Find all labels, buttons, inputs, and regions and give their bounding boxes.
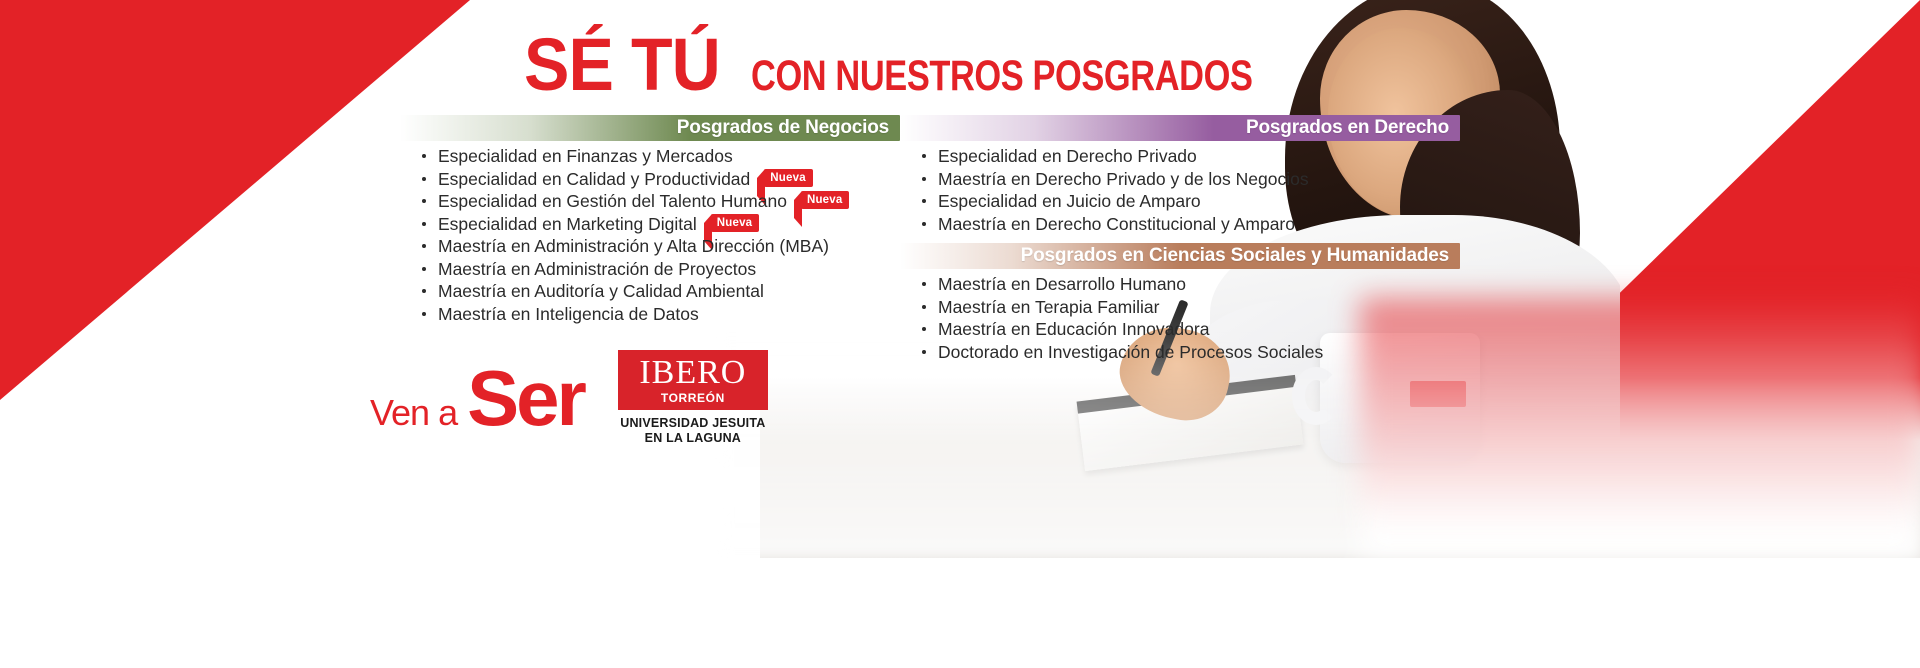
program-label: Maestría en Desarrollo Humano xyxy=(938,273,1186,296)
bullet-icon xyxy=(422,289,426,293)
program-list-derecho: Especialidad en Derecho Privado Maestría… xyxy=(900,145,1460,235)
section-title-negocios: Posgrados de Negocios xyxy=(400,115,900,141)
program-label: Especialidad en Derecho Privado xyxy=(938,145,1197,168)
ibero-logo[interactable]: IBERO TORREÓN UNIVERSIDAD JESUITA EN LA … xyxy=(618,350,768,446)
column-right: Posgrados en Derecho Especialidad en Der… xyxy=(900,115,1460,363)
list-item[interactable]: Maestría en Derecho Privado y de los Neg… xyxy=(900,168,1460,191)
list-item[interactable]: Especialidad en Juicio de Amparo xyxy=(900,190,1460,213)
bullet-icon xyxy=(422,267,426,271)
ibero-logo-plate: IBERO TORREÓN xyxy=(618,350,768,410)
list-item[interactable]: Especialidad en Derecho Privado xyxy=(900,145,1460,168)
program-label: Maestría en Auditoría y Calidad Ambienta… xyxy=(438,280,764,303)
bullet-icon xyxy=(922,350,926,354)
list-item[interactable]: Maestría en Administración y Alta Direcc… xyxy=(400,235,900,258)
new-badge: Nueva xyxy=(711,214,760,232)
ibero-tagline-line-2: EN LA LAGUNA xyxy=(620,431,765,446)
program-label: Especialidad en Calidad y Productividad xyxy=(438,168,750,191)
bottom-white-band xyxy=(0,558,1920,668)
program-list-ciencias-sociales: Maestría en Desarrollo Humano Maestría e… xyxy=(900,273,1460,363)
new-badge: Nueva xyxy=(801,191,850,209)
program-label: Maestría en Administración y Alta Direcc… xyxy=(438,235,829,258)
program-list-negocios: Especialidad en Finanzas y Mercados Espe… xyxy=(400,145,900,325)
brand-lockup: Ven a Ser IBERO TORREÓN UNIVERSIDAD JESU… xyxy=(370,350,768,446)
new-badge: Nueva xyxy=(764,169,813,187)
list-item[interactable]: Maestría en Educación Innovadora xyxy=(900,318,1460,341)
section-header-ciencias-sociales: Posgrados en Ciencias Sociales y Humanid… xyxy=(900,243,1460,269)
bullet-icon xyxy=(422,222,426,226)
ibero-logo-name: IBERO xyxy=(618,356,768,390)
section-title-ciencias-sociales: Posgrados en Ciencias Sociales y Humanid… xyxy=(900,243,1460,269)
bullet-icon xyxy=(922,282,926,286)
list-item[interactable]: Maestría en Inteligencia de Datos xyxy=(400,303,900,326)
program-label: Doctorado en Investigación de Procesos S… xyxy=(938,341,1323,364)
program-label: Maestría en Terapia Familiar xyxy=(938,296,1159,319)
section-header-derecho: Posgrados en Derecho xyxy=(900,115,1460,141)
bullet-icon xyxy=(422,199,426,203)
list-item[interactable]: Doctorado en Investigación de Procesos S… xyxy=(900,341,1460,364)
section-header-negocios: Posgrados de Negocios xyxy=(400,115,900,141)
program-label: Especialidad en Juicio de Amparo xyxy=(938,190,1201,213)
ibero-logo-campus: TORREÓN xyxy=(618,391,768,405)
ven-a-ser-slogan: Ven a Ser xyxy=(370,363,584,434)
bullet-icon xyxy=(922,154,926,158)
program-label: Especialidad en Gestión del Talento Huma… xyxy=(438,190,787,213)
program-label: Maestría en Educación Innovadora xyxy=(938,318,1209,341)
program-label: Especialidad en Finanzas y Mercados xyxy=(438,145,733,168)
list-item[interactable]: Especialidad en Marketing DigitalNueva xyxy=(400,213,900,236)
ibero-logo-tagline: UNIVERSIDAD JESUITA EN LA LAGUNA xyxy=(620,416,765,446)
list-item[interactable]: Maestría en Auditoría y Calidad Ambienta… xyxy=(400,280,900,303)
program-label: Maestría en Derecho Constitucional y Amp… xyxy=(938,213,1295,236)
ibero-tagline-line-1: UNIVERSIDAD JESUITA xyxy=(620,416,765,431)
bullet-icon xyxy=(922,199,926,203)
program-label: Especialidad en Marketing Digital xyxy=(438,213,697,236)
list-item[interactable]: Especialidad en Gestión del Talento Huma… xyxy=(400,190,900,213)
bullet-icon xyxy=(422,177,426,181)
headline: SÉ TÚ CON NUESTROS POSGRADOS xyxy=(524,22,1378,107)
column-left: Posgrados de Negocios Especialidad en Fi… xyxy=(400,115,900,325)
slogan-ser: Ser xyxy=(467,363,584,433)
bullet-icon xyxy=(922,177,926,181)
program-label: Maestría en Administración de Proyectos xyxy=(438,258,756,281)
bullet-icon xyxy=(922,327,926,331)
headline-main: SÉ TÚ xyxy=(524,22,720,107)
bullet-icon xyxy=(922,305,926,309)
list-item[interactable]: Maestría en Administración de Proyectos xyxy=(400,258,900,281)
list-item[interactable]: Maestría en Desarrollo Humano xyxy=(900,273,1460,296)
bullet-icon xyxy=(422,312,426,316)
program-label: Maestría en Derecho Privado y de los Neg… xyxy=(938,168,1309,191)
headline-sub: CON NUESTROS POSGRADOS xyxy=(751,52,1253,101)
promotional-banner: SÉ TÚ CON NUESTROS POSGRADOS Posgrados d… xyxy=(0,0,1920,668)
bullet-icon xyxy=(422,244,426,248)
section-title-derecho: Posgrados en Derecho xyxy=(900,115,1460,141)
list-item[interactable]: Maestría en Terapia Familiar xyxy=(900,296,1460,319)
list-item[interactable]: Especialidad en Finanzas y Mercados xyxy=(400,145,900,168)
bullet-icon xyxy=(922,222,926,226)
list-item[interactable]: Especialidad en Calidad y ProductividadN… xyxy=(400,168,900,191)
list-item[interactable]: Maestría en Derecho Constitucional y Amp… xyxy=(900,213,1460,236)
slogan-ven-a: Ven a xyxy=(370,392,457,434)
program-label: Maestría en Inteligencia de Datos xyxy=(438,303,699,326)
bullet-icon xyxy=(422,154,426,158)
